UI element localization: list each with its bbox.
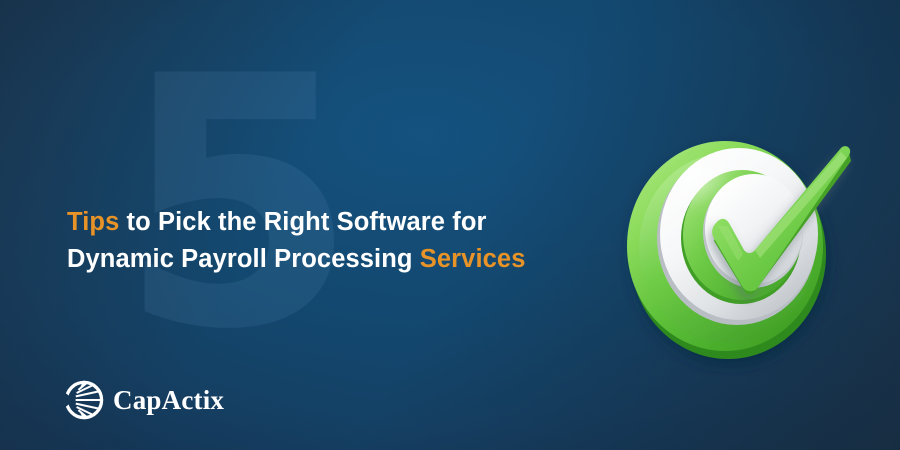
capactix-logo[interactable]: CapActix (62, 378, 224, 422)
page-title: Tips to Pick the Right Software for Dyna… (67, 204, 627, 278)
promo-banner: 5 Tips to Pick the Right Software for Dy… (0, 0, 900, 450)
fan-shell-icon (62, 378, 106, 422)
headline-line1-rest: to Pick the Right Software for (119, 208, 486, 236)
headline-line2-rest: Dynamic Payroll Processing (67, 245, 420, 273)
headline-accent-tips: Tips (67, 208, 119, 236)
check-circle-3d-icon (615, 118, 865, 376)
headline-accent-services: Services (420, 245, 526, 273)
logo-wordmark: CapActix (113, 386, 224, 414)
